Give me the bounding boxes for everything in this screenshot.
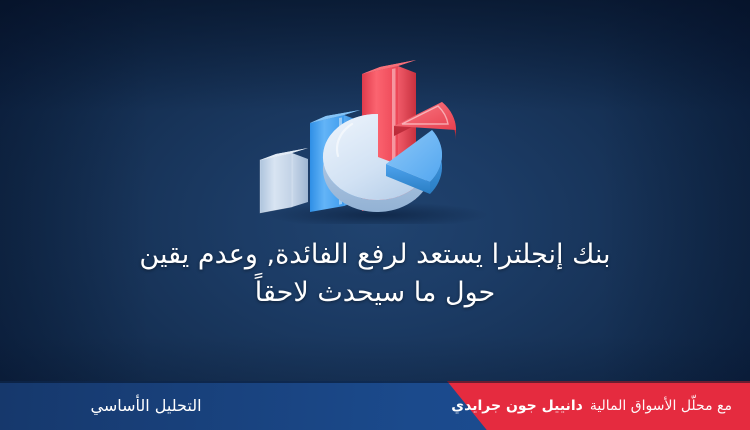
- credit-lead-text: مع محلّل الأسواق المالية: [590, 398, 732, 414]
- headline-line-1: بنك إنجلترا يستعد لرفع الفائدة, وعدم يقي…: [42, 236, 708, 274]
- bar-small: [260, 148, 308, 213]
- category-label: التحليل الأساسي: [90, 396, 201, 415]
- chart-illustration: [252, 52, 504, 224]
- headline: بنك إنجلترا يستعد لرفع الفائدة, وعدم يقي…: [0, 236, 750, 313]
- promo-card: بنك إنجلترا يستعد لرفع الفائدة, وعدم يقي…: [0, 0, 750, 430]
- footer-bar: مع محلّل الأسواق المالية دانييل جون جراي…: [0, 381, 750, 430]
- category-badge: التحليل الأساسي: [0, 381, 292, 430]
- headline-line-2: حول ما سيحدث لاحقاً: [42, 274, 708, 312]
- analyst-credit: مع محلّل الأسواق المالية دانييل جون جراي…: [451, 381, 732, 430]
- analyst-name: دانييل جون جرايدي: [451, 398, 583, 414]
